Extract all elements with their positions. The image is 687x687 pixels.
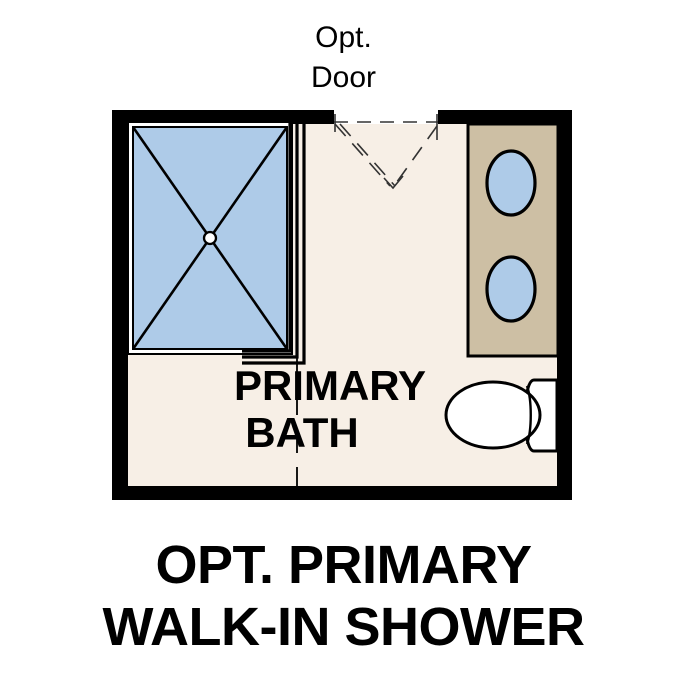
double-sink-vanity bbox=[468, 124, 558, 356]
caption-line-1: OPT. PRIMARY bbox=[0, 534, 687, 596]
toilet-bowl bbox=[446, 382, 540, 448]
shower-drain-icon bbox=[204, 232, 216, 244]
room-label-line-2: BATH bbox=[245, 409, 359, 456]
floor-plan-svg: PRIMARY BATH bbox=[112, 110, 572, 500]
opt-door-annotation: Opt. Door bbox=[0, 18, 687, 98]
wall-top-right-segment bbox=[438, 110, 572, 124]
wall-bottom bbox=[112, 486, 572, 500]
wall-left bbox=[112, 110, 128, 500]
plan-caption: OPT. PRIMARY WALK-IN SHOWER bbox=[0, 534, 687, 658]
opt-door-line-2: Door bbox=[0, 58, 687, 98]
floor-plan-page: Opt. Door bbox=[0, 0, 687, 687]
floor-plan-drawing: PRIMARY BATH bbox=[112, 110, 572, 500]
sink-basin-lower bbox=[487, 257, 535, 321]
toilet bbox=[446, 380, 557, 451]
sink-basin-upper bbox=[487, 151, 535, 215]
room-label-line-1: PRIMARY bbox=[234, 362, 426, 409]
opt-door-line-1: Opt. bbox=[315, 21, 372, 54]
caption-line-2: WALK-IN SHOWER bbox=[0, 596, 687, 658]
walk-in-shower bbox=[128, 122, 304, 363]
